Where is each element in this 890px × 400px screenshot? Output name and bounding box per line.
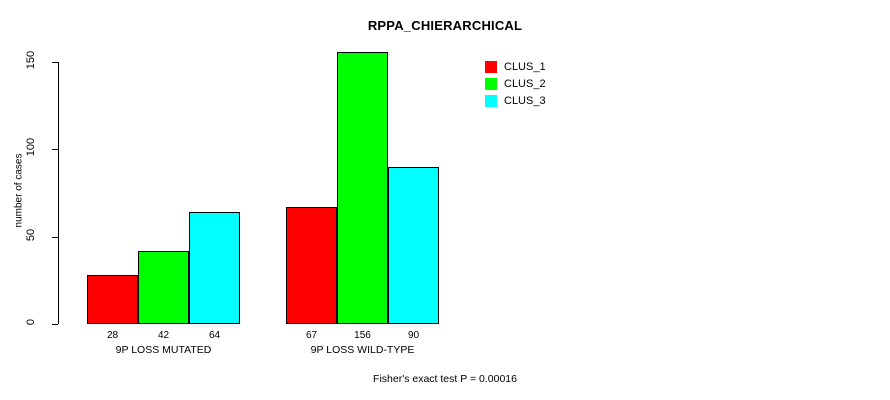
legend-item-label: CLUS_2 xyxy=(504,78,546,90)
bar-value-label: 28 xyxy=(87,330,138,341)
legend-item: CLUS_1 xyxy=(485,59,546,74)
bar-clus_1-2 xyxy=(286,207,337,324)
bar-value-label: 156 xyxy=(337,330,388,341)
chart-footnote: Fisher's exact test P = 0.00016 xyxy=(0,373,890,385)
legend-item-label: CLUS_1 xyxy=(504,61,546,73)
y-axis-tick-mark xyxy=(52,149,58,150)
bar-value-label: 90 xyxy=(388,330,439,341)
bar-clus_3-2 xyxy=(388,167,439,324)
y-axis-tick-label: 50 xyxy=(25,220,37,250)
bar-clus_1-1 xyxy=(87,275,138,324)
bar-chart-figure: RPPA_CHIERARCHICAL number of cases 05010… xyxy=(0,0,890,400)
y-axis-title: number of cases xyxy=(14,141,25,241)
bar-value-label: 42 xyxy=(138,330,189,341)
legend-color-swatch xyxy=(485,61,497,73)
legend-item-label: CLUS_3 xyxy=(504,95,546,107)
y-axis-tick-mark xyxy=(52,324,58,325)
y-axis-tick-mark xyxy=(52,62,58,63)
legend-color-swatch xyxy=(485,95,497,107)
bar-value-label: 64 xyxy=(189,330,240,341)
y-axis-line xyxy=(58,62,59,324)
y-axis-tick-label: 100 xyxy=(25,132,37,162)
y-axis-tick-label: 150 xyxy=(25,45,37,75)
x-axis-group-label: 9P LOSS WILD-TYPE xyxy=(246,344,479,356)
bar-value-label: 67 xyxy=(286,330,337,341)
legend-item: CLUS_2 xyxy=(485,76,546,91)
legend-item: CLUS_3 xyxy=(485,93,546,108)
bar-clus_3-1 xyxy=(189,212,240,324)
bar-clus_2-1 xyxy=(138,251,189,324)
y-axis-tick-label: 0 xyxy=(25,307,37,337)
chart-title: RPPA_CHIERARCHICAL xyxy=(0,18,890,33)
bar-clus_2-2 xyxy=(337,52,388,324)
legend-color-swatch xyxy=(485,78,497,90)
legend: CLUS_1CLUS_2CLUS_3 xyxy=(485,59,546,110)
y-axis-tick-mark xyxy=(52,237,58,238)
